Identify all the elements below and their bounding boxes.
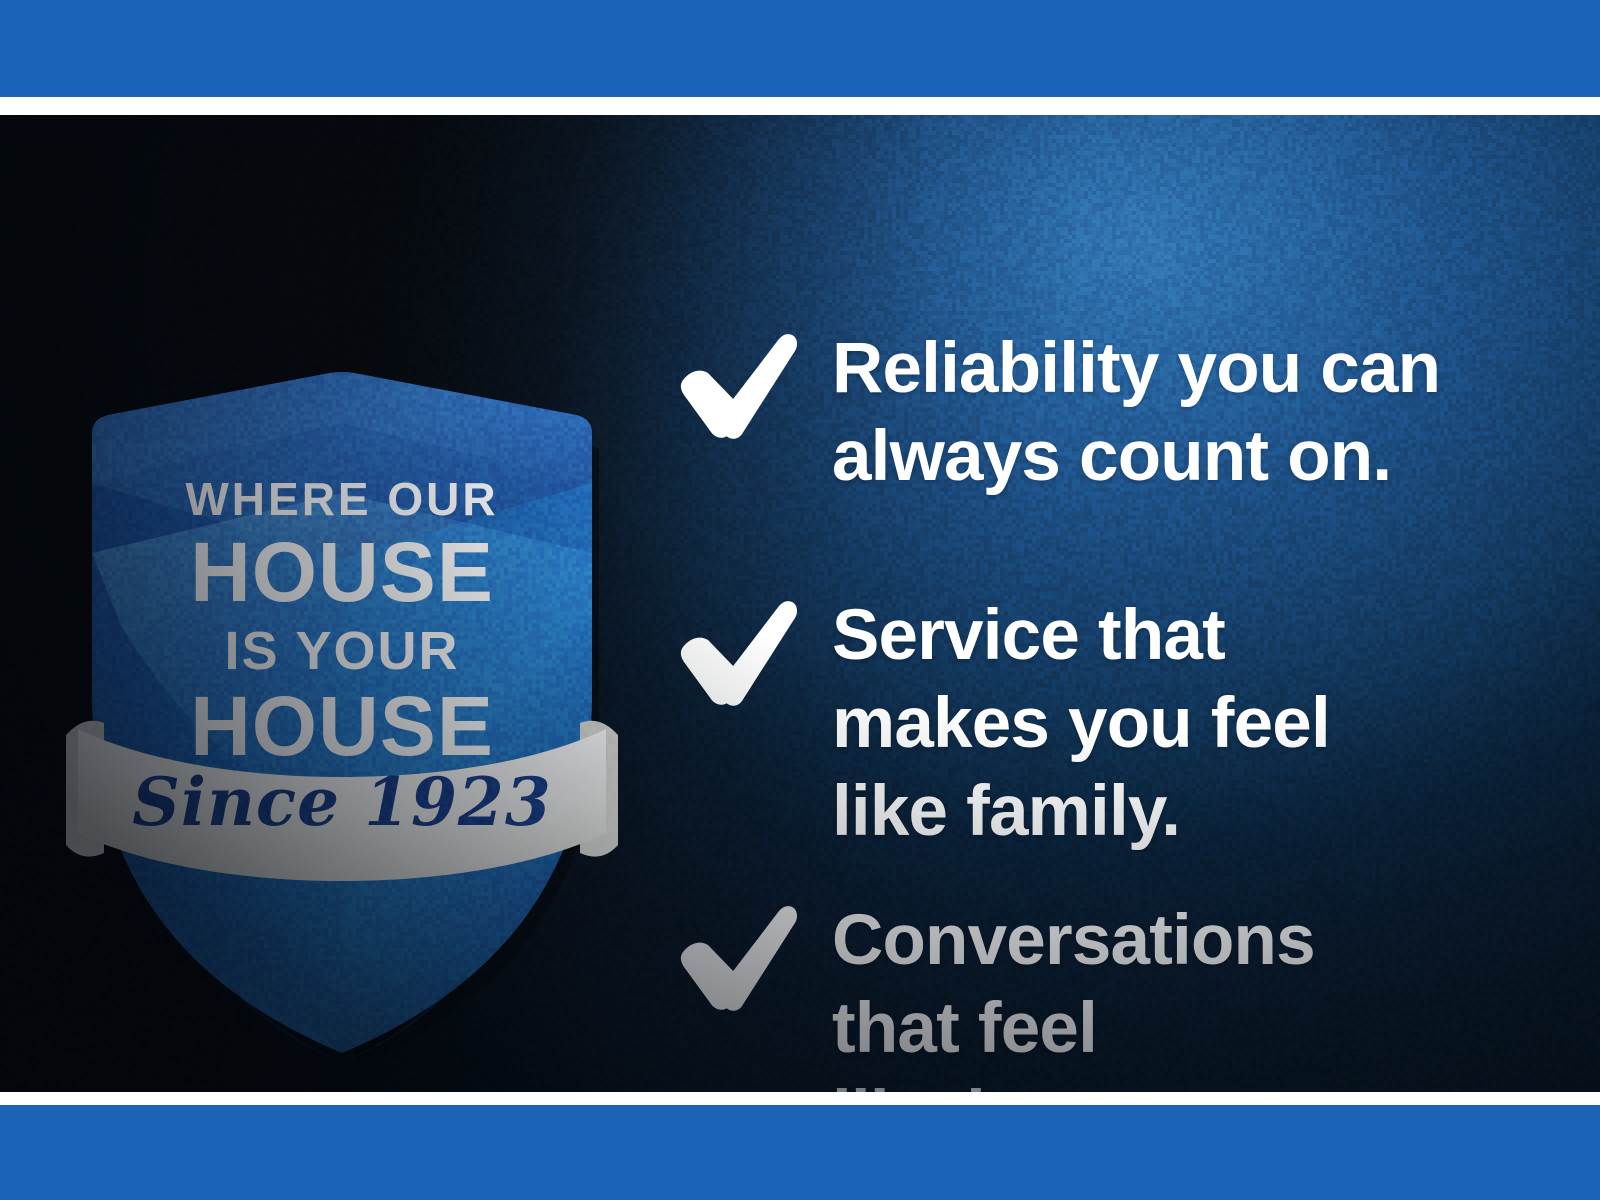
- ribbon-since-text: Since 1923: [132, 763, 552, 841]
- top-brand-band: [0, 0, 1600, 97]
- benefit-text: Conversations that feel like home.: [832, 897, 1532, 1092]
- benefit-text: Reliability you can always count on.: [832, 325, 1532, 501]
- emblem-line-3: IS YOUR: [224, 621, 459, 681]
- emblem-line-4: HOUSE: [190, 679, 494, 773]
- check-icon: [680, 905, 798, 1021]
- check-icon: [680, 333, 798, 449]
- promo-graphic-canvas: WHERE OUR HOUSE IS YOUR HOUSE Since 1923…: [0, 0, 1600, 1200]
- main-dark-panel: WHERE OUR HOUSE IS YOUR HOUSE Since 1923…: [0, 115, 1600, 1092]
- bottom-band-divider: [0, 1092, 1600, 1105]
- emblem-line-2: HOUSE: [190, 525, 494, 619]
- bottom-brand-band: [0, 1105, 1600, 1200]
- benefit-text: Service that makes you feel like family.: [832, 592, 1532, 856]
- check-icon: [680, 600, 798, 716]
- top-band-divider: [0, 97, 1600, 115]
- emblem-line-1: WHERE OUR: [185, 473, 498, 525]
- shield-emblem: WHERE OUR HOUSE IS YOUR HOUSE Since 1923: [60, 363, 620, 1063]
- shield-graphic: WHERE OUR HOUSE IS YOUR HOUSE Since 1923: [60, 363, 620, 1063]
